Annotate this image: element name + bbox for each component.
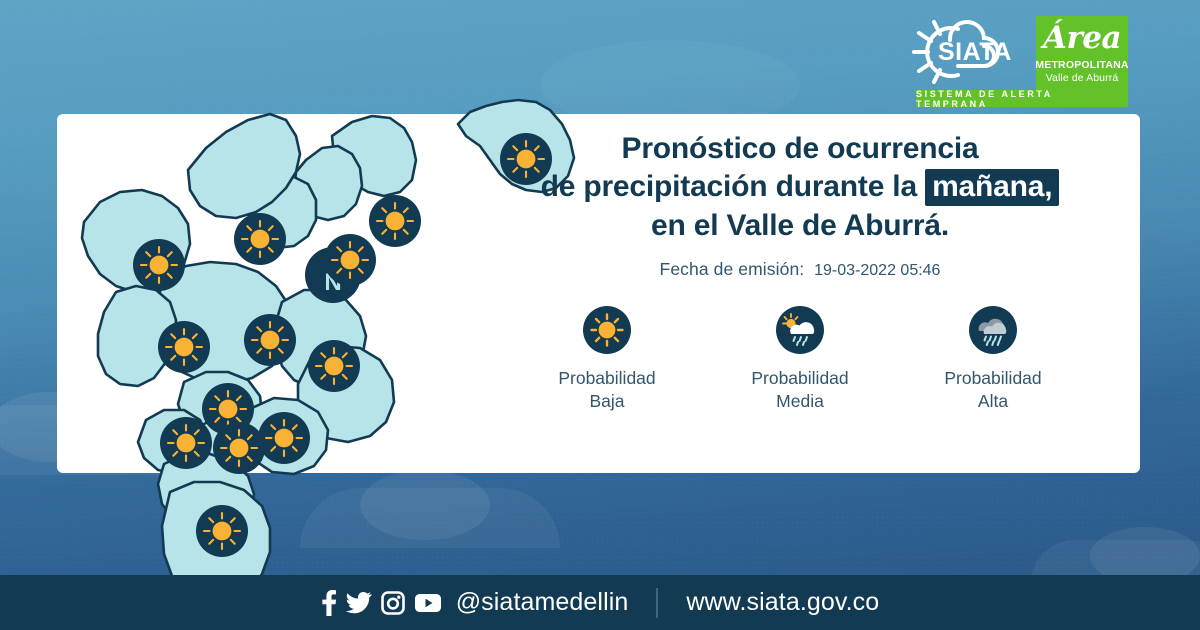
- page-title: Pronóstico de ocurrencia de precipitació…: [470, 130, 1130, 245]
- headline-line-2-text: de precipitación durante la: [541, 170, 917, 203]
- headline-highlight: mañana,: [925, 169, 1059, 206]
- legend-item-media: Probabilidad Media: [704, 306, 897, 412]
- valle-de-aburra-map: N: [60, 40, 420, 585]
- tagline-bar: SISTEMA DE ALERTA TEMPRANA: [916, 90, 1128, 107]
- legend-label-alta-line1: Probabilidad: [944, 367, 1041, 389]
- infographic-canvas: SIATA Área METROPOLITANA Valle de Aburrá…: [0, 0, 1200, 630]
- youtube-icon[interactable]: [414, 593, 442, 613]
- am-subtitle-1: METROPOLITANA: [1035, 59, 1128, 71]
- legend-label-alta: Probabilidad Alta: [944, 367, 1041, 412]
- website-url[interactable]: www.siata.gov.co: [686, 588, 879, 617]
- emission-value: 19-03-2022 05:46: [814, 262, 940, 279]
- marker-bello: [308, 340, 360, 392]
- legend-label-media-line2: Media: [751, 390, 848, 412]
- headline-line-3: en el Valle de Aburrá.: [470, 207, 1130, 245]
- am-script-text: Área: [1043, 23, 1121, 54]
- marker-copacabana: [324, 234, 376, 286]
- siata-logo: SIATA: [906, 16, 1026, 88]
- marker-itagui: [160, 417, 212, 469]
- emission-date: Fecha de emisión: 19-03-2022 05:46: [470, 259, 1130, 280]
- legend-label-media: Probabilidad Media: [751, 367, 848, 412]
- probability-legend: Probabilidad Baja: [470, 306, 1130, 412]
- marker-sabaneta: [213, 422, 265, 474]
- marker-envigado: [258, 412, 310, 464]
- legend-item-baja: Probabilidad Baja: [511, 306, 704, 412]
- legend-label-alta-line2: Alta: [944, 390, 1041, 412]
- logo-group: SIATA Área METROPOLITANA Valle de Aburrá: [906, 16, 1128, 96]
- legend-label-media-line1: Probabilidad: [751, 367, 848, 389]
- marker-caldas: [196, 505, 248, 557]
- legend-label-baja-line1: Probabilidad: [558, 367, 655, 389]
- legend-label-baja-line2: Baja: [558, 390, 655, 412]
- social-icon-group: [321, 589, 442, 617]
- am-subtitle-2: Valle de Aburrá: [1046, 72, 1119, 84]
- facebook-icon[interactable]: [321, 589, 337, 617]
- legend-item-alta: Probabilidad Alta: [897, 306, 1090, 412]
- emission-label: Fecha de emisión:: [660, 259, 805, 279]
- siata-wordmark: SIATA: [938, 38, 1012, 67]
- headline-line-1: Pronóstico de ocurrencia: [470, 130, 1130, 168]
- sun-icon: [583, 306, 631, 354]
- footer-divider: [656, 588, 658, 618]
- twitter-icon[interactable]: [346, 591, 372, 615]
- cloud-rain-icon: [969, 306, 1017, 354]
- sun-cloud-rain-icon: [776, 306, 824, 354]
- area-metropolitana-logo: Área METROPOLITANA Valle de Aburrá: [1036, 16, 1128, 96]
- marker-medellin-norte: [244, 314, 296, 366]
- marker-san-pedro: [234, 213, 286, 265]
- footer-bar: @siatamedellin www.siata.gov.co: [0, 575, 1200, 630]
- headline-line-2: de precipitación durante la mañana,: [470, 168, 1130, 206]
- tagline-text: SISTEMA DE ALERTA TEMPRANA: [916, 89, 1128, 109]
- forecast-panel: Pronóstico de ocurrencia de precipitació…: [470, 130, 1130, 412]
- marker-girardota: [369, 195, 421, 247]
- marker-san-jeronimo: [133, 239, 185, 291]
- instagram-icon[interactable]: [381, 591, 405, 615]
- legend-label-baja: Probabilidad Baja: [558, 367, 655, 412]
- marker-medellin-oeste: [158, 321, 210, 373]
- social-handle[interactable]: @siatamedellin: [456, 588, 629, 617]
